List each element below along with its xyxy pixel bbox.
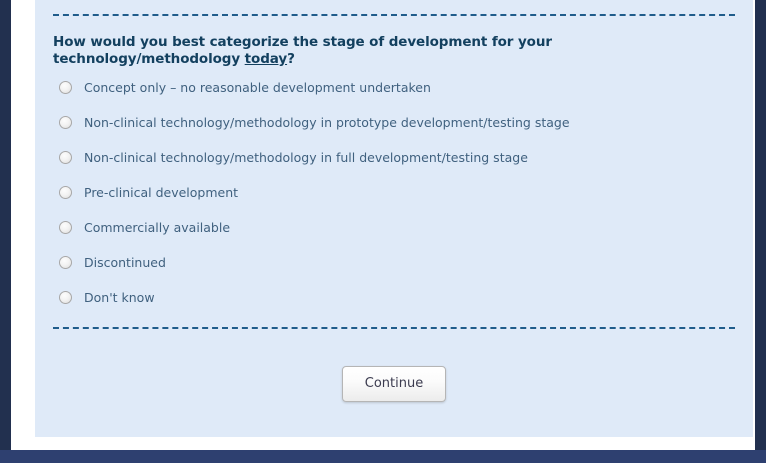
option-row-discontinued[interactable]: Discontinued (53, 245, 733, 280)
radio-icon-full-development-stage[interactable] (59, 151, 72, 164)
option-row-dont-know[interactable]: Don't know (53, 280, 733, 315)
radio-icon-prototype-stage[interactable] (59, 116, 72, 129)
page-frame: How would you best categorize the stage … (0, 0, 766, 463)
question-text-after: ? (287, 51, 295, 67)
continue-button-container: Continue (35, 366, 753, 402)
question-emphasis-today: today (245, 51, 287, 67)
option-label-dont-know: Don't know (84, 290, 155, 305)
question-title: How would you best categorize the stage … (53, 34, 593, 68)
option-row-pre-clinical[interactable]: Pre-clinical development (53, 175, 733, 210)
option-label-full-development-stage: Non-clinical technology/methodology in f… (84, 150, 528, 165)
divider-bottom (53, 327, 735, 329)
option-row-commercially-available[interactable]: Commercially available (53, 210, 733, 245)
bottom-navy-bar (0, 450, 766, 463)
option-label-prototype-stage: Non-clinical technology/methodology in p… (84, 115, 570, 130)
radio-icon-discontinued[interactable] (59, 256, 72, 269)
survey-panel: How would you best categorize the stage … (35, 0, 753, 437)
option-row-full-development-stage[interactable]: Non-clinical technology/methodology in f… (53, 140, 733, 175)
option-row-prototype-stage[interactable]: Non-clinical technology/methodology in p… (53, 105, 733, 140)
radio-icon-concept-only[interactable] (59, 81, 72, 94)
option-label-pre-clinical: Pre-clinical development (84, 185, 238, 200)
options-list: Concept only – no reasonable development… (53, 70, 733, 315)
option-label-concept-only: Concept only – no reasonable development… (84, 80, 431, 95)
radio-icon-commercially-available[interactable] (59, 221, 72, 234)
option-label-commercially-available: Commercially available (84, 220, 230, 235)
option-label-discontinued: Discontinued (84, 255, 166, 270)
divider-top (53, 14, 735, 16)
continue-button[interactable]: Continue (342, 366, 446, 402)
option-row-concept-only[interactable]: Concept only – no reasonable development… (53, 70, 733, 105)
radio-icon-pre-clinical[interactable] (59, 186, 72, 199)
question-text-before: How would you best categorize the stage … (53, 34, 552, 67)
radio-icon-dont-know[interactable] (59, 291, 72, 304)
